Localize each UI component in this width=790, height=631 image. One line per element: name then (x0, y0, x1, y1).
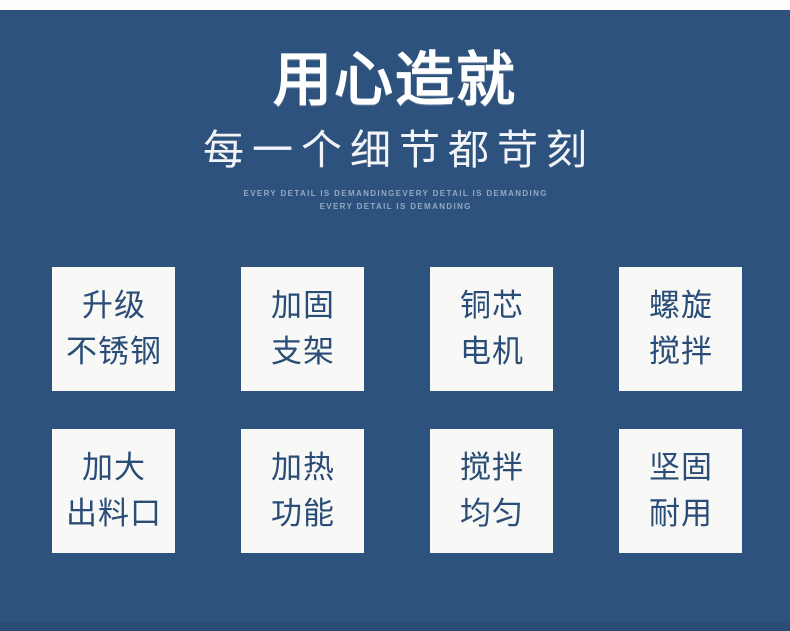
feature-card-line-2: 出料口 (65, 491, 162, 537)
feature-card: 加热 功能 (241, 429, 364, 553)
feature-card-line-2: 电机 (459, 329, 524, 375)
feature-card: 螺旋 搅拌 (619, 267, 742, 391)
feature-card-line-1: 坚固 (648, 445, 713, 491)
feature-card: 加大 出料口 (52, 429, 175, 553)
feature-card-line-2: 支架 (270, 329, 335, 375)
feature-card: 加固 支架 (241, 267, 364, 391)
feature-card: 铜芯 电机 (430, 267, 553, 391)
feature-card: 搅拌 均匀 (430, 429, 553, 553)
feature-card-line-2: 功能 (270, 491, 335, 537)
top-white-strip (0, 0, 790, 10)
feature-card-grid: 升级 不锈钢 加固 支架 铜芯 电机 螺旋 搅拌 加大 出料口 加热 功能 搅拌… (52, 267, 743, 553)
feature-card-line-2: 均匀 (459, 491, 524, 537)
feature-card-line-1: 加热 (270, 445, 335, 491)
feature-card-line-1: 加固 (270, 283, 335, 329)
feature-card: 坚固 耐用 (619, 429, 742, 553)
main-title: 用心造就 (0, 48, 790, 112)
feature-card-line-1: 螺旋 (648, 283, 713, 329)
feature-card-line-1: 加大 (81, 445, 146, 491)
feature-card-line-1: 升级 (81, 283, 146, 329)
english-tagline-line-1: EVERY DETAIL IS DEMANDINGEVERY DETAIL IS… (0, 187, 790, 200)
english-tagline-block: EVERY DETAIL IS DEMANDINGEVERY DETAIL IS… (0, 187, 790, 213)
feature-card-line-1: 铜芯 (459, 283, 524, 329)
english-tagline-line-2: EVERY DETAIL IS DEMANDING (0, 200, 790, 213)
feature-card-line-1: 搅拌 (459, 445, 524, 491)
feature-card-line-2: 不锈钢 (65, 329, 162, 375)
headline-block: 用心造就 每一个细节都苛刻 EVERY DETAIL IS DEMANDINGE… (0, 48, 790, 213)
feature-card-line-2: 耐用 (648, 491, 713, 537)
bottom-edge-band (0, 623, 790, 631)
promo-poster: 用心造就 每一个细节都苛刻 EVERY DETAIL IS DEMANDINGE… (0, 0, 790, 631)
sub-title: 每一个细节都苛刻 (0, 126, 790, 174)
feature-card: 升级 不锈钢 (52, 267, 175, 391)
feature-card-line-2: 搅拌 (648, 329, 713, 375)
